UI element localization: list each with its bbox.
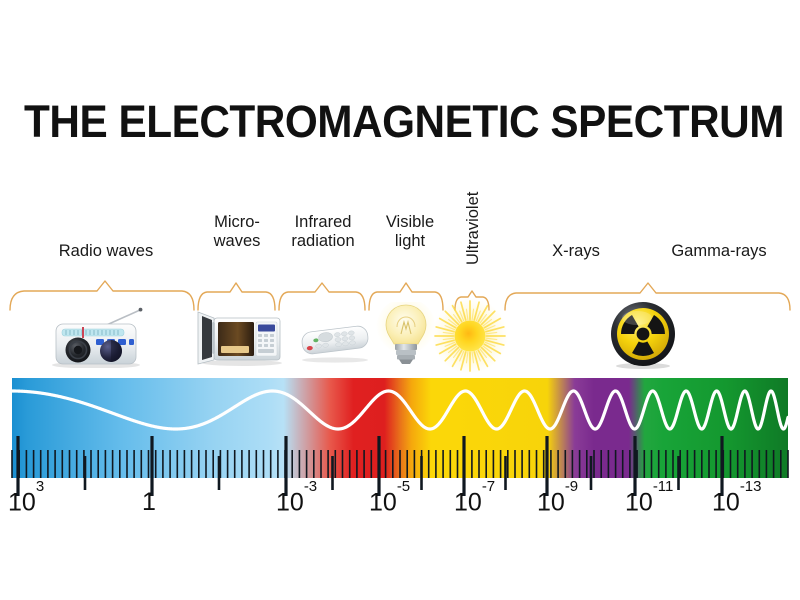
scale-label-10neg7: 10-7 — [454, 488, 495, 517]
scale-label-1: 1 — [142, 488, 156, 517]
scale-label-exponent: -5 — [397, 478, 410, 495]
scale-label-10neg5: 10-5 — [369, 488, 410, 517]
scale-label-exponent: 3 — [36, 478, 44, 495]
microwave-oven-icon — [190, 310, 288, 366]
scale-label-10neg3: 10-3 — [276, 488, 317, 517]
radiation-hazard-icon — [606, 300, 680, 370]
sun-icon — [432, 298, 508, 374]
band-label-visible-light: Visible light — [370, 213, 450, 251]
band-label-ultraviolet: Ultraviolet — [464, 180, 483, 276]
radio-receiver-icon — [40, 306, 150, 368]
band-label-radio: Radio waves — [18, 242, 194, 261]
scale-label-exponent: -13 — [740, 478, 762, 495]
scale-label-10neg11: 10-11 — [625, 488, 673, 517]
page-title: THE ELECTROMAGNETIC SPECTRUM — [24, 96, 776, 148]
scale-label-exponent: -9 — [565, 478, 578, 495]
scale-label-exponent: -7 — [482, 478, 495, 495]
scale-label-103: 103 — [8, 488, 44, 517]
scale-label-10neg9: 10-9 — [537, 488, 578, 517]
spectrum-infographic: THE ELECTROMAGNETIC SPECTRUM Radio waves… — [0, 0, 800, 600]
scale-label-exponent: -11 — [653, 478, 674, 495]
band-label-microwaves: Micro- waves — [198, 213, 276, 251]
band-label-gamma-rays: Gamma-rays — [648, 242, 790, 261]
scale-label-exponent: -3 — [304, 478, 317, 495]
band-label-xrays: X-rays — [505, 242, 647, 261]
scale-label-10neg13: 10-13 — [712, 488, 762, 517]
remote-control-icon — [294, 318, 376, 364]
band-label-infrared: Infrared radiation — [276, 213, 370, 251]
light-bulb-icon — [376, 302, 438, 368]
